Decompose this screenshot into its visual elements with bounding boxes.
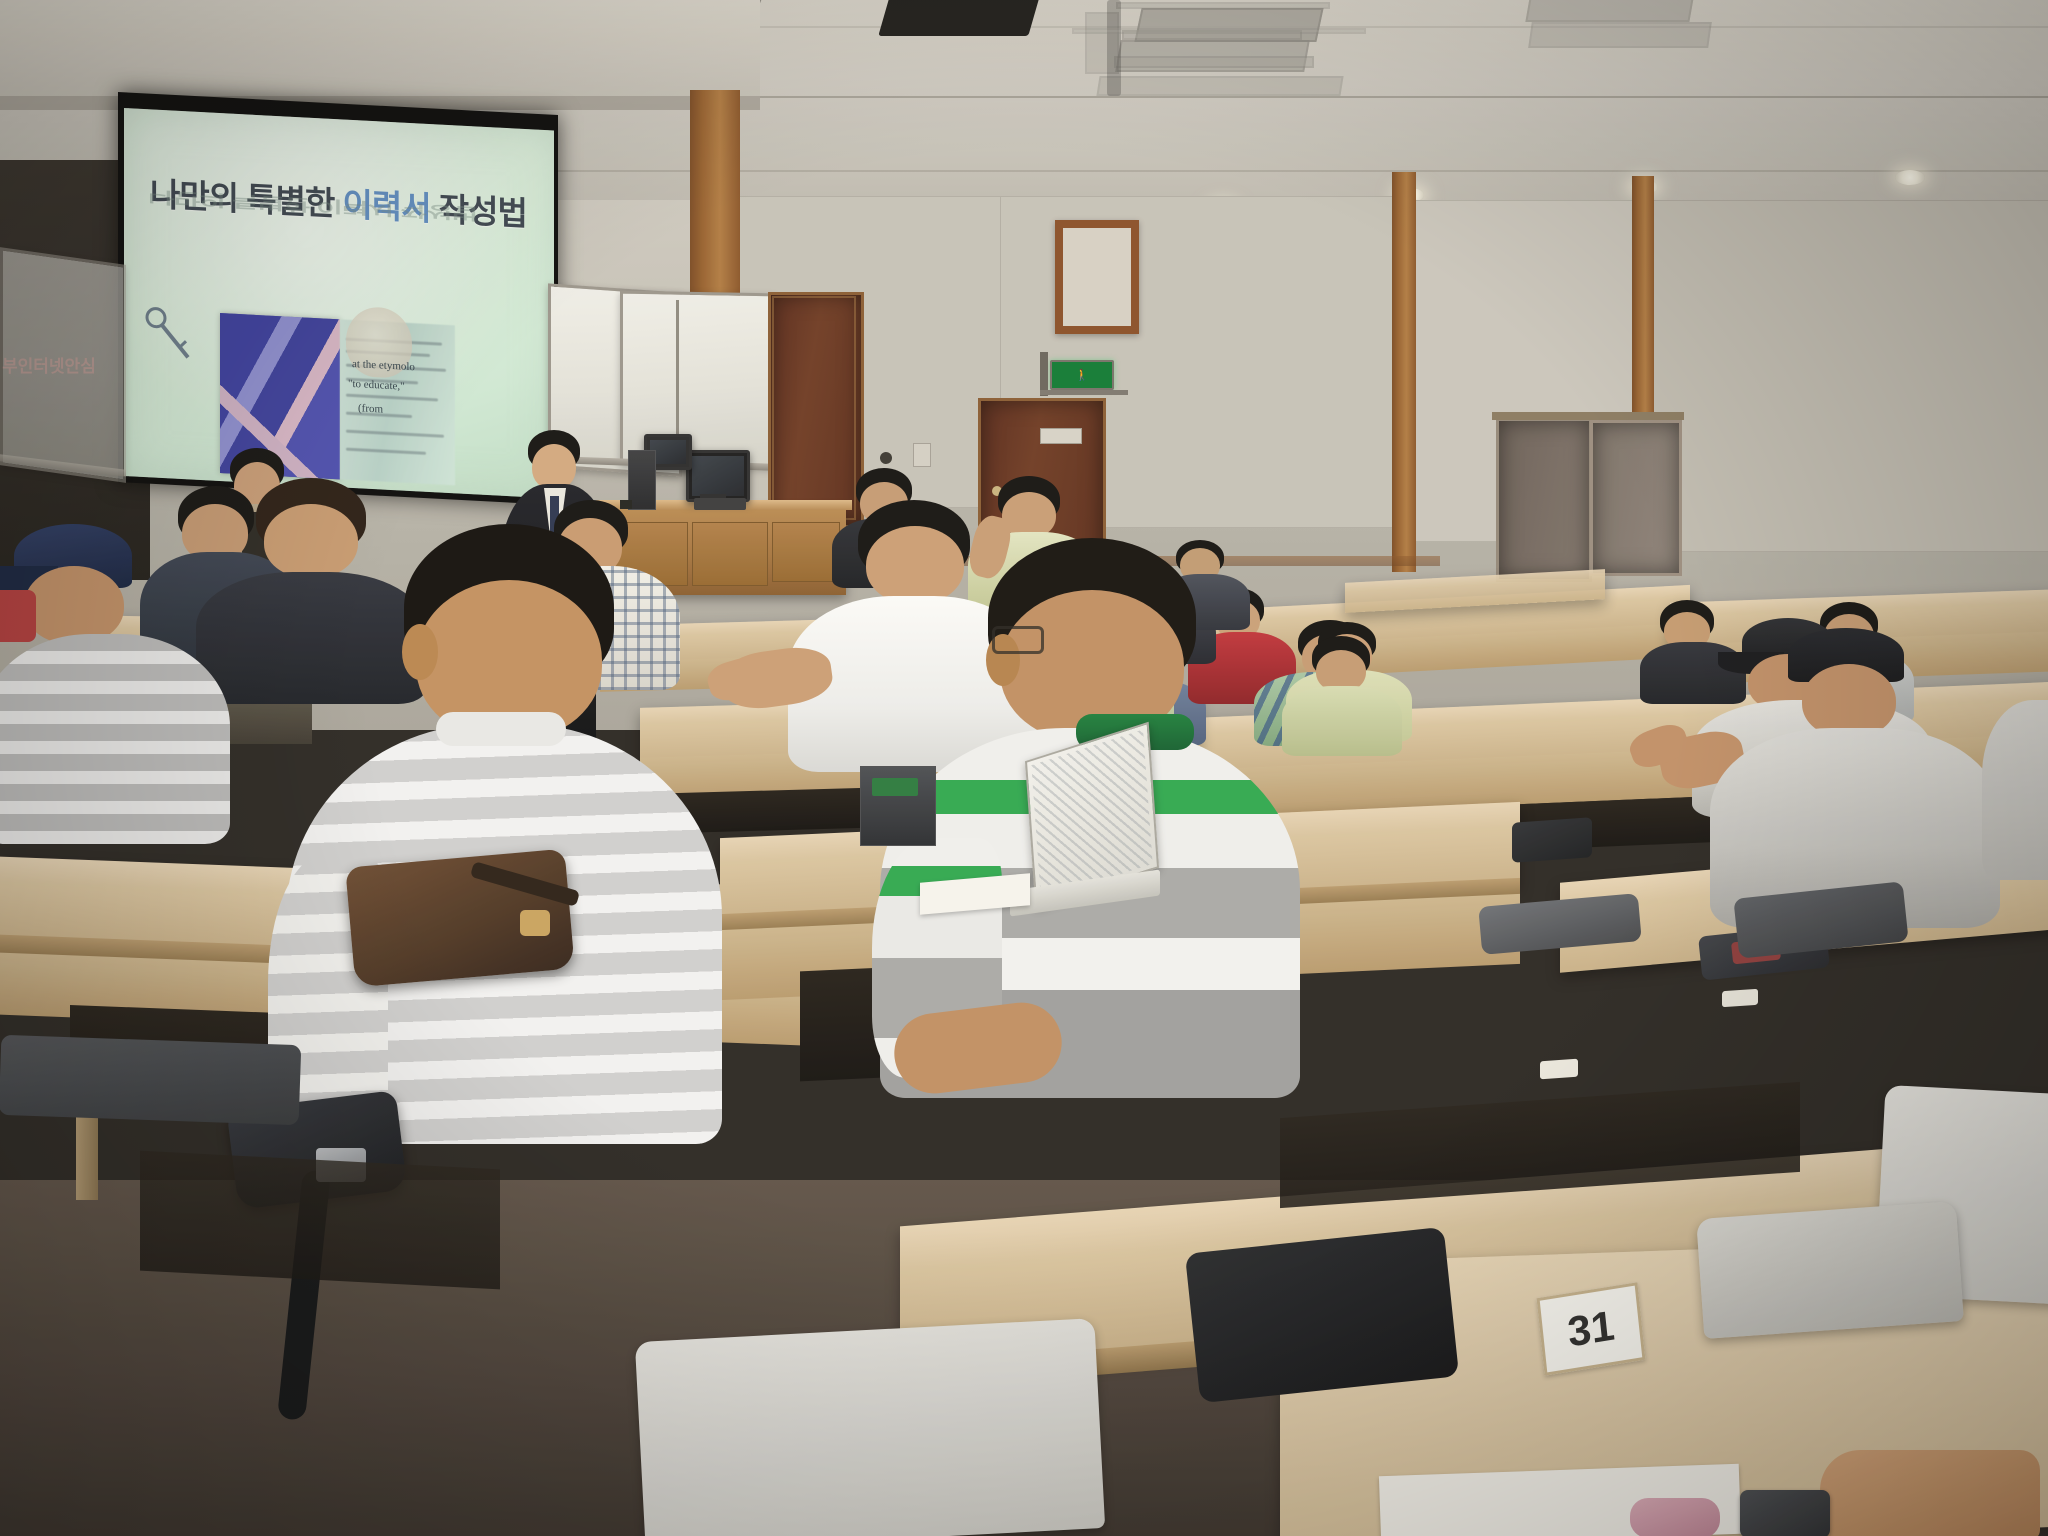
door-far-right[interactable] <box>1496 418 1592 582</box>
head <box>24 566 124 644</box>
light-switch[interactable] <box>913 443 931 467</box>
projection-screen: 나만의 특별한 이력서 작성법 나만의 특별한 이력서 작성법 at the e… <box>124 108 554 499</box>
ceiling-beam-left <box>0 0 760 110</box>
wall-panel <box>1650 200 2048 552</box>
eyeglasses <box>992 626 1044 654</box>
chair-left-dark[interactable] <box>0 1035 301 1125</box>
ceiling-vent-dark <box>1107 0 1121 96</box>
bag-under-desk[interactable] <box>1185 1227 1459 1403</box>
wall-picture-frame <box>1055 220 1139 334</box>
desk-number-placard: 31 <box>1536 1282 1645 1376</box>
door-header-trim <box>1492 412 1684 420</box>
shirt-collar-red <box>0 590 36 642</box>
collar <box>436 712 566 746</box>
hand-foreground <box>1820 1450 2040 1536</box>
bag-buckle <box>520 910 550 936</box>
ceiling-downlight <box>1895 170 1925 185</box>
exit-sign-bracket <box>1040 390 1128 395</box>
small-paper-right[interactable] <box>1540 1059 1578 1080</box>
head <box>1802 664 1896 738</box>
body-striped-polo <box>0 634 230 844</box>
door-room-plate <box>1040 428 1082 444</box>
ceiling-vent <box>1116 2 1330 9</box>
exit-running-man-icon: 🚶 <box>1075 369 1089 382</box>
ceiling-vent <box>1528 22 1712 48</box>
lecture-hall-photo: 부인터넷안심 🚶 나만의 특별한 이력서 작성법 나만의 특별한 이력서 작성법 <box>0 0 2048 1536</box>
ceiling-vent <box>1096 76 1343 96</box>
body <box>1982 700 2048 880</box>
ceiling-vent <box>1072 28 1366 34</box>
small-paper[interactable] <box>1722 989 1758 1008</box>
door-far-right-2[interactable] <box>1590 420 1682 576</box>
wood-column <box>1392 172 1416 572</box>
chair-foreground[interactable] <box>635 1318 1105 1536</box>
ceiling-vent <box>1525 0 1694 22</box>
keyboard[interactable] <box>694 498 746 510</box>
whiteboard-left <box>0 247 126 483</box>
slide-key-icon <box>142 305 198 368</box>
pc-label <box>872 778 918 796</box>
ear <box>402 624 438 680</box>
wall-sensor-icon <box>880 452 892 464</box>
ceiling-vent <box>1114 56 1314 68</box>
student-right-front <box>1710 628 2010 928</box>
dark-bag-right[interactable] <box>1512 817 1592 863</box>
slide-english-line-3: (from <box>358 402 383 415</box>
mobile-phone[interactable] <box>1740 1490 1830 1536</box>
exit-sign: 🚶 <box>1050 360 1114 390</box>
desk-underside-left <box>140 1151 500 1290</box>
pink-object <box>1630 1498 1720 1536</box>
student-front-grey-stripe <box>286 524 746 1144</box>
chair-right-2[interactable] <box>1696 1201 1964 1339</box>
student-cap-left-front <box>0 508 270 848</box>
ceiling-vent-dark <box>878 0 1039 36</box>
student-edge-right <box>1982 700 2048 880</box>
